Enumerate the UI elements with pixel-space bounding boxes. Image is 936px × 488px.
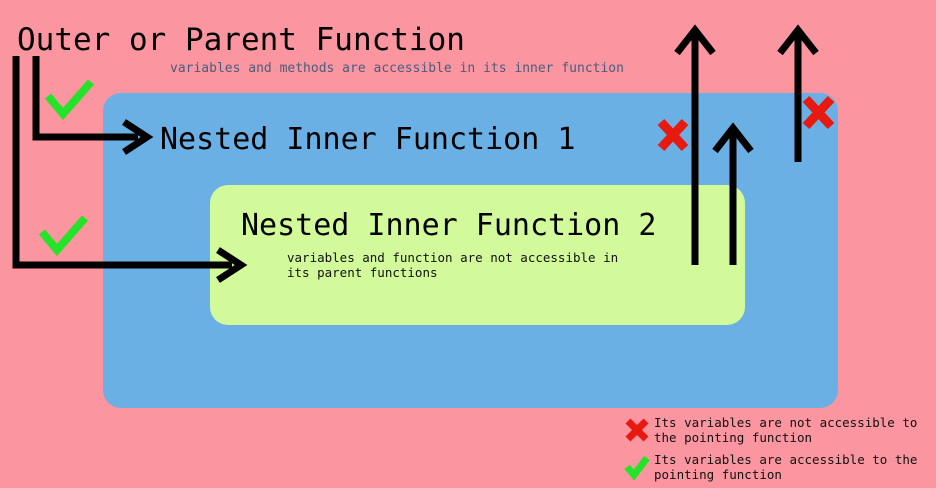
legend-item-not-accessible: Its variables are not accessible to the …: [620, 415, 930, 445]
cross-icon: [620, 415, 654, 443]
check-outer-to-inner2-icon: [42, 218, 85, 250]
legend: Its variables are not accessible to the …: [620, 415, 930, 488]
nested-inner-function-1-title: Nested Inner Function 1: [160, 122, 575, 157]
check-icon: [620, 452, 654, 480]
legend-item-not-accessible-label: Its variables are not accessible to the …: [654, 415, 930, 445]
legend-item-accessible: Its variables are accessible to the poin…: [620, 452, 930, 482]
nested-inner-function-2-title: Nested Inner Function 2: [241, 208, 656, 243]
outer-function-note: variables and methods are accessible in …: [170, 61, 624, 76]
legend-item-accessible-label: Its variables are accessible to the poin…: [654, 452, 930, 482]
nested-inner-function-2-note: variables and function are not accessibl…: [287, 250, 647, 280]
outer-function-title: Outer or Parent Function: [17, 22, 465, 58]
check-outer-to-inner1-icon: [48, 82, 91, 114]
diagram-canvas: Outer or Parent Function variables and m…: [0, 0, 936, 488]
